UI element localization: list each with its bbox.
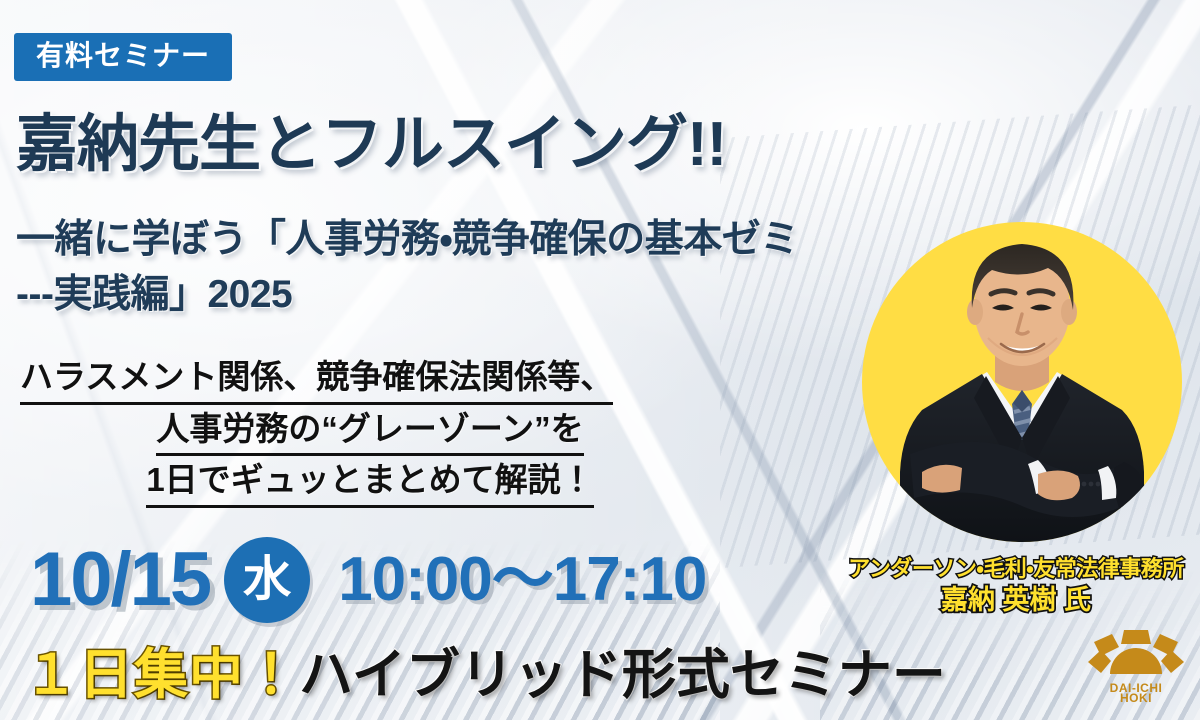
weekday-badge: 水 (224, 537, 310, 623)
speaker-name: 嘉納 英樹 氏 (840, 585, 1192, 617)
rising-sun-icon (1086, 628, 1186, 684)
speaker-portrait (862, 222, 1182, 542)
seminar-banner: 有料セミナー 嘉納先生とフルスイング!! 一緒に学ぼう「人事労務・競争確保の基本… (0, 0, 1200, 720)
speaker-credit: アンダーソン・毛利・友常法律事務所 嘉納 英樹 氏 (840, 556, 1192, 617)
logo-text-line-2: HOKI (1082, 692, 1190, 704)
schedule-row: 10/15 水 10:00〜17:10 (30, 537, 706, 623)
subtitle-line-1: 一緒に学ぼう「人事労務・競争確保の基本ゼミ (16, 212, 799, 267)
subtitle-line-2: ---実践編」2025 (16, 267, 799, 322)
format-highlight: １日集中！ (24, 648, 299, 702)
speaker-firm: アンダーソン・毛利・友常法律事務所 (840, 556, 1192, 582)
speaker-photo (862, 222, 1182, 552)
format-bar: １日集中！ ハイブリッド形式セミナー (24, 648, 946, 702)
description-line-1: ハラスメント関係、競争確保法関係等、 (20, 353, 720, 405)
event-time: 10:00〜17:10 (338, 549, 706, 611)
format-label: ハイブリッド形式セミナー (299, 648, 946, 702)
description: ハラスメント関係、競争確保法関係等、 人事労務の“グレーゾーン”を 1日でギュッ… (20, 353, 720, 508)
company-logo: DAI-ICHI HOKI (1082, 628, 1190, 714)
main-title: 嘉納先生とフルスイング!! (16, 114, 726, 176)
description-line-2: 人事労務の“グレーゾーン”を (20, 405, 720, 457)
description-line-3: 1日でギュッとまとめて解説！ (20, 456, 720, 508)
event-date: 10/15 (30, 542, 210, 618)
subtitle: 一緒に学ぼう「人事労務・競争確保の基本ゼミ ---実践編」2025 (16, 212, 799, 323)
category-badge: 有料セミナー (14, 33, 232, 81)
